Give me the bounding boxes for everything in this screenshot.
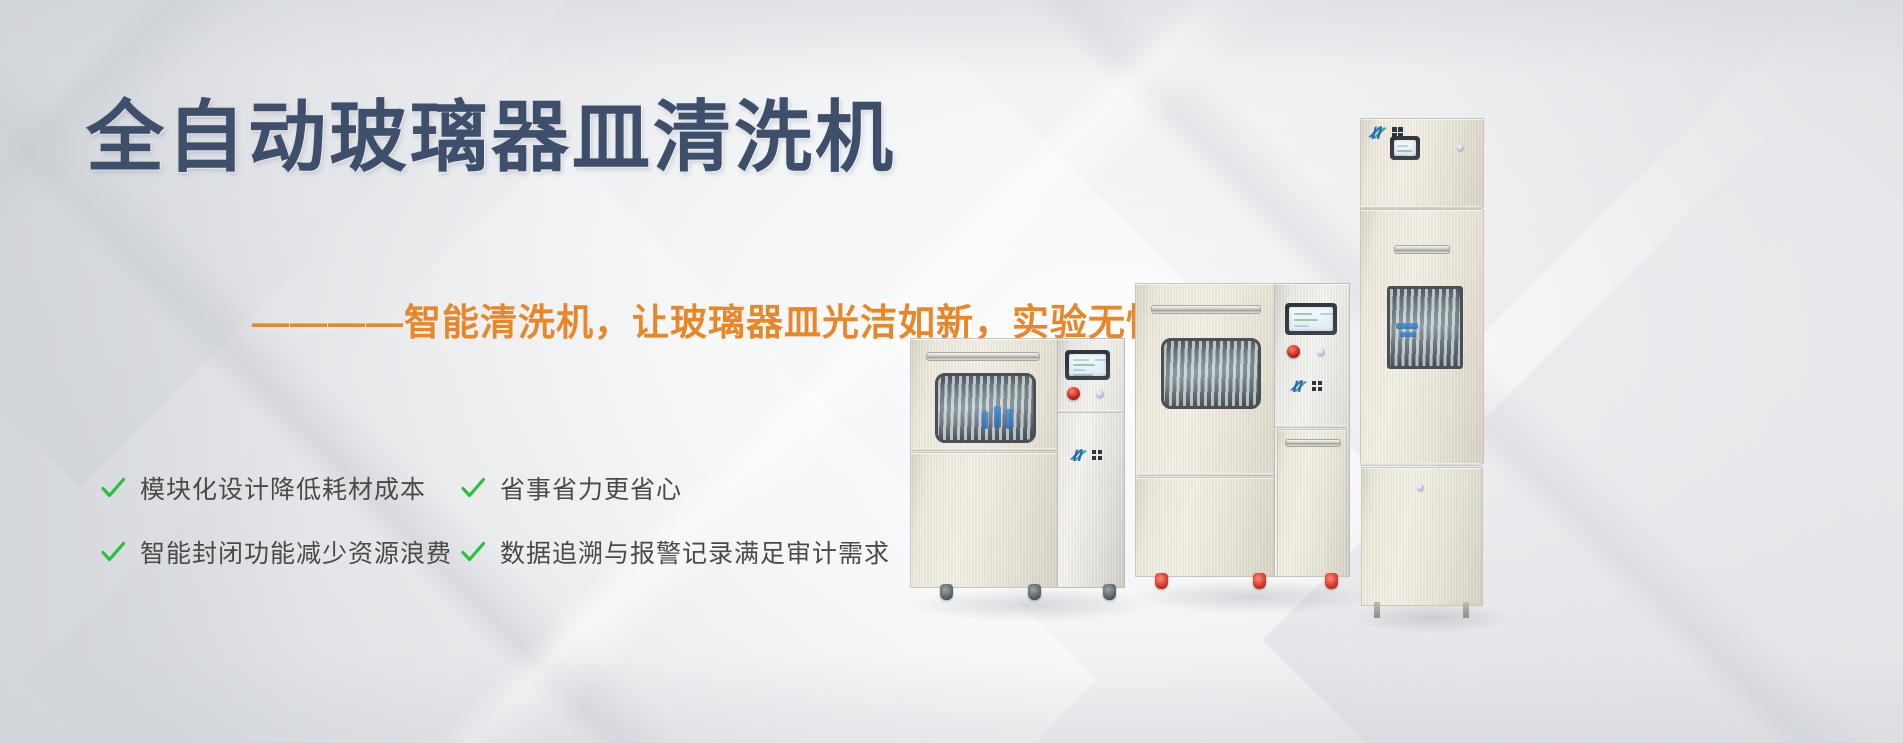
support-leg (1374, 602, 1380, 618)
indicator-light (1457, 144, 1464, 151)
caster-wheel (940, 584, 953, 600)
door-handle[interactable] (1151, 305, 1261, 314)
glassware-load (1164, 341, 1258, 406)
caster-wheel (1155, 573, 1168, 589)
feature-label: 模块化设计降低耗材成本 (140, 470, 426, 506)
page-title: 全自动玻璃器皿清洗机 (86, 96, 896, 179)
product-image-tall-column-washer (1360, 118, 1500, 618)
chamber-viewing-window (935, 373, 1036, 443)
chamber-viewing-window (1387, 286, 1463, 369)
panel-seam (1137, 473, 1273, 476)
check-icon (460, 475, 486, 501)
touchscreen-display[interactable] (1065, 350, 1110, 380)
feature-row: 模块化设计降低耗材成本 省事省力更省心 (100, 470, 980, 506)
support-leg (1463, 602, 1469, 618)
caster-wheel (1103, 584, 1116, 600)
caster-wheel (1325, 573, 1338, 589)
check-icon (460, 539, 486, 565)
feature-list: 模块化设计降低耗材成本 省事省力更省心 智能封闭功能减少资源浪费 (100, 470, 980, 598)
lower-access-panel (1135, 477, 1277, 577)
utility-door[interactable] (1277, 429, 1347, 577)
panel-seam (912, 448, 1056, 451)
feature-item: 省事省力更省心 (460, 470, 920, 506)
product-image-undercounter-washer (910, 330, 1145, 620)
panel-seam (1275, 425, 1347, 428)
door-handle[interactable] (926, 352, 1040, 361)
touchscreen-display[interactable] (1390, 136, 1420, 160)
feature-label: 数据追溯与报警记录满足审计需求 (500, 534, 890, 570)
door-handle[interactable] (1285, 439, 1341, 447)
brand-logo-icon (1289, 379, 1322, 393)
feature-label: 智能封闭功能减少资源浪费 (140, 534, 452, 570)
product-hero-banner: 全自动玻璃器皿清洗机 ————智能清洗机，让玻璃器皿光洁如新，实验无忧！ 模块化… (0, 0, 1903, 743)
product-image-freestanding-washer (1135, 275, 1365, 615)
feature-item: 智能封闭功能减少资源浪费 (100, 534, 460, 570)
panel-seam (1058, 410, 1122, 413)
feature-item: 数据追溯与报警记录满足审计需求 (460, 534, 920, 570)
check-icon (100, 475, 126, 501)
glassware-load (938, 376, 1033, 440)
feature-item: 模块化设计降低耗材成本 (100, 470, 460, 506)
lower-access-panel (910, 452, 1060, 588)
emergency-stop-button[interactable] (1067, 387, 1080, 400)
brand-logo-icon (1069, 448, 1102, 462)
indicator-light (1317, 348, 1325, 356)
chamber-viewing-window (1161, 338, 1261, 409)
caster-wheel (1028, 584, 1041, 600)
door-latch-icon (1417, 484, 1424, 491)
touchscreen-display[interactable] (1285, 303, 1337, 335)
feature-row: 智能封闭功能减少资源浪费 数据追溯与报警记录满足审计需求 (100, 534, 980, 570)
door-handle[interactable] (1394, 245, 1450, 254)
caster-wheel (1253, 573, 1266, 589)
check-icon (100, 539, 126, 565)
indicator-light (1096, 390, 1104, 398)
panel-seam (1360, 463, 1482, 466)
feature-label: 省事省力更省心 (500, 470, 682, 506)
product-image-group (890, 0, 1903, 743)
emergency-stop-button[interactable] (1287, 345, 1300, 358)
